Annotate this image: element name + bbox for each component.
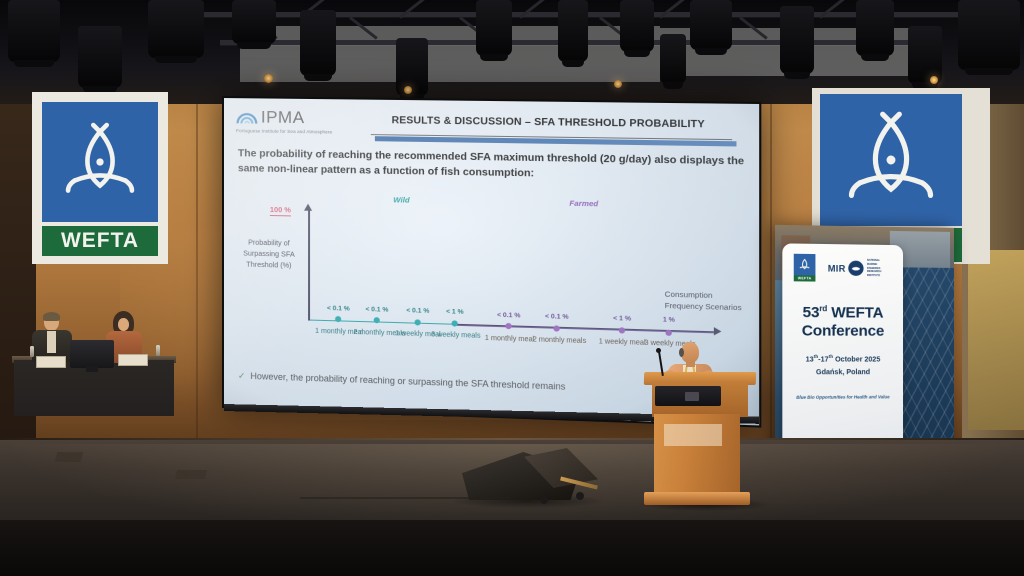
- rollup-conference-title: 53rd WEFTA Conference: [790, 304, 896, 340]
- slide-intro-text: The probability of reaching the recommen…: [238, 146, 748, 186]
- panel-desk-monitor-stand: [86, 366, 98, 372]
- stage-light: [396, 38, 428, 96]
- rollup-tagline: Blue Bio Opportunities for Health and Va…: [790, 395, 896, 401]
- rollup-edition-number: 53: [802, 304, 819, 321]
- water-bottle: [156, 345, 160, 356]
- chart-y-axis: [308, 210, 310, 321]
- chart-value-farmed-3: < 1 %: [613, 315, 631, 323]
- rollup-wefta-wordmark: WEFTA: [794, 275, 816, 281]
- stage-apron-shadow: [0, 520, 1024, 576]
- chart-value-wild-1: < 0.1 %: [327, 305, 350, 313]
- wedge-caster-wheel: [576, 492, 584, 500]
- stage-light: [558, 0, 588, 62]
- chart-point-farmed-4: [665, 329, 672, 336]
- triquetra-fish-icon: [839, 108, 943, 212]
- stage-light: [476, 0, 512, 56]
- wefta-wordmark-left: WEFTA: [42, 226, 158, 256]
- stage-light: [908, 26, 942, 84]
- chart-group-label-farmed: Farmed: [569, 199, 598, 209]
- triquetra-fish-icon: [58, 120, 142, 204]
- wefta-logo-mark-right: [820, 94, 962, 226]
- wall-seam: [196, 60, 198, 440]
- scene-root: WEFTA WEFTA: [0, 0, 1024, 576]
- panel-desk-monitor: [70, 340, 114, 368]
- stage-light: [78, 26, 122, 88]
- presenter-hair: [679, 348, 684, 357]
- rollup-date-end-sup: th: [829, 354, 833, 359]
- chart-x-axis-arrow: [714, 327, 722, 336]
- rollup-date-end: 17: [821, 357, 829, 364]
- stage-light: [780, 6, 814, 74]
- stage-light: [8, 0, 60, 62]
- floor-cable: [300, 497, 510, 499]
- stage-light: [856, 0, 894, 56]
- chart-x-axis-label: Consumption Frequency Scenarios: [665, 289, 749, 314]
- fish-icon: [851, 263, 862, 274]
- chart-point-farmed-2: [553, 325, 560, 332]
- panelist-left-hair: [43, 312, 60, 321]
- chart-value-wild-4: < 1 %: [446, 308, 464, 316]
- panelist-right-face: [118, 318, 129, 331]
- mir-institute-subtitle: NATIONALMARINEFISHERIESRESEARCHINSTITUTE: [867, 259, 881, 278]
- mir-wordmark: MIR: [828, 263, 846, 273]
- light-lens: [930, 76, 938, 84]
- ipma-wordmark: IPMA: [261, 108, 305, 126]
- chart-category-farmed-3: 1 weekly meal: [598, 337, 647, 348]
- stage-light: [660, 34, 686, 84]
- panelist-left-namecard: [36, 356, 66, 368]
- chart-line-farmed: [453, 324, 714, 333]
- lectern-plaque: [664, 424, 722, 446]
- mir-fish-icon: [849, 261, 864, 276]
- right-wall-yellow-panel: [968, 250, 1024, 430]
- stage-light: [148, 0, 204, 58]
- lectern-confidence-monitor: [655, 386, 721, 406]
- slide-footer-text: However, the probability of reaching or …: [250, 371, 565, 392]
- stage-light: [690, 0, 732, 50]
- slide-title: RESULTS & DISCUSSION – SFA THRESHOLD PRO…: [365, 115, 734, 131]
- triquetra-fish-icon: [797, 257, 813, 273]
- floor-object: [55, 452, 83, 462]
- chart-point-wild-3: [415, 319, 422, 326]
- rollup-logo-row: WEFTA MIR NATIONALMARINEFISHERIESRESEARC…: [790, 254, 896, 283]
- rollup-date-rest: October 2025: [835, 357, 880, 364]
- water-bottle: [30, 346, 34, 357]
- ipma-wave-icon: [236, 106, 258, 126]
- rollup-date-start-sup: th: [814, 354, 818, 359]
- stage-light: [232, 0, 276, 44]
- rollup-wefta-mark: [794, 254, 816, 276]
- chart-line-wild: [310, 319, 453, 325]
- chart-value-wild-2: < 0.1 %: [365, 306, 388, 314]
- light-lens: [264, 74, 273, 83]
- ipma-logo: IPMA Portuguese Institute for Sea and At…: [236, 106, 365, 137]
- light-lens: [404, 86, 412, 94]
- chart-point-wild-4: [452, 320, 459, 327]
- chart-category-wild-4: 3 weekly meals: [431, 330, 478, 341]
- microphone-head: [656, 348, 661, 353]
- rollup-edition-ordinal: rd: [819, 304, 827, 313]
- chart-value-wild-3: < 0.1 %: [406, 307, 429, 315]
- panelist-right-namecard: [118, 354, 148, 366]
- stage-light: [620, 0, 654, 52]
- chart-category-farmed-2: 2 monthly meals: [533, 335, 581, 346]
- rollup-dates-block: 13th-17th October 2025 Gdańsk, Poland: [790, 353, 896, 379]
- wall-seam: [770, 60, 772, 440]
- chart-y-axis-label: Probability of Surpassing SFA Threshold …: [234, 236, 304, 271]
- sfa-probability-chart: Wild Farmed 100 % Probability of Surpass…: [232, 190, 755, 375]
- checkmark-icon: ✓: [238, 371, 246, 382]
- ipma-subtitle: Portuguese Institute for Sea and Atmosph…: [236, 128, 365, 136]
- chart-value-farmed-4: 1 %: [663, 316, 675, 324]
- wefta-logo-mark-left: [42, 102, 158, 222]
- chart-value-farmed-1: < 0.1 %: [497, 312, 520, 320]
- wedge-caster-wheel: [540, 496, 548, 504]
- light-lens: [614, 80, 622, 88]
- wefta-banner-left: WEFTA: [32, 92, 168, 264]
- chart-group-label-wild: Wild: [393, 195, 409, 204]
- chart-point-farmed-1: [505, 323, 512, 330]
- chart-point-farmed-3: [619, 327, 626, 334]
- rollup-wefta-logo: WEFTA: [794, 254, 816, 282]
- rollup-location: Gdańsk, Poland: [816, 369, 870, 376]
- chart-value-farmed-2: < 0.1 %: [545, 313, 569, 321]
- rollup-title-main: WEFTA: [831, 304, 883, 322]
- stage-light: [958, 0, 1020, 70]
- floor-object: [175, 470, 207, 479]
- chart-y-top-tick: 100 %: [270, 205, 291, 216]
- mir-logo: MIR NATIONALMARINEFISHERIESRESEARCHINSTI…: [828, 258, 881, 278]
- panelist-left-shirt: [47, 331, 56, 353]
- lectern-base: [644, 492, 750, 505]
- stage-light: [300, 10, 336, 76]
- ipma-mark: IPMA: [236, 106, 365, 128]
- rollup-title-line2: Conference: [802, 322, 884, 340]
- chart-category-farmed-1: 1 monthly meal: [485, 334, 533, 345]
